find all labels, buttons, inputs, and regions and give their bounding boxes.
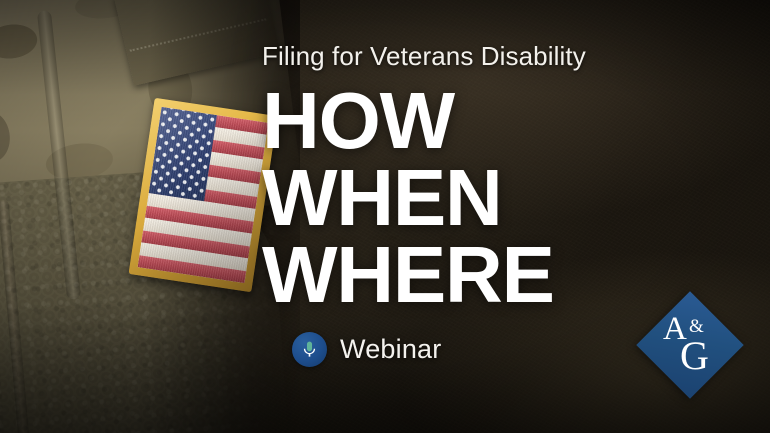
headline: HOW WHEN WHERE [262, 82, 554, 314]
logo-letter-g: G [680, 336, 709, 376]
promo-banner: Filing for Veterans Disability HOW WHEN … [0, 0, 770, 433]
headline-line-where: WHERE [262, 236, 554, 313]
headline-line-how: HOW [262, 82, 554, 159]
webinar-badge: Webinar [292, 332, 441, 367]
webinar-label: Webinar [340, 334, 441, 365]
logo-lettering: A & G [637, 292, 743, 398]
headline-line-when: WHEN [262, 159, 554, 236]
subtitle: Filing for Veterans Disability [262, 41, 586, 72]
ag-logo: A & G [637, 292, 743, 398]
microphone-icon [292, 332, 327, 367]
